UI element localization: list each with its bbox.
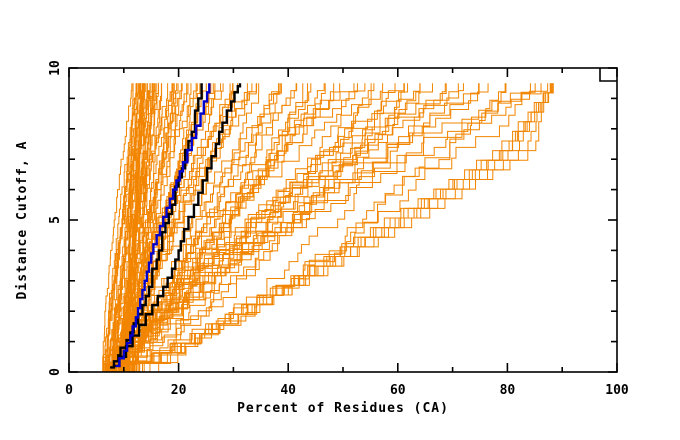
y-tick-label: 0 bbox=[48, 368, 63, 376]
x-tick-label: 80 bbox=[500, 383, 516, 398]
x-tick-label: 0 bbox=[65, 383, 73, 398]
x-tick-label: 20 bbox=[171, 383, 187, 398]
y-axis-label: Distance Cutoff, A bbox=[15, 141, 30, 300]
x-tick-label: 60 bbox=[390, 383, 406, 398]
canvas-background bbox=[0, 0, 680, 440]
x-tick-label: 100 bbox=[605, 383, 629, 398]
x-tick-label: 40 bbox=[280, 383, 296, 398]
y-tick-label: 10 bbox=[48, 60, 63, 76]
chart-page: T0981-D2 0204060801000510 Percent of Res… bbox=[0, 0, 680, 440]
y-tick-label: 5 bbox=[48, 216, 63, 224]
x-axis-label: Percent of Residues (CA) bbox=[237, 401, 449, 416]
plot-canvas: 0204060801000510 Percent of Residues (CA… bbox=[0, 0, 680, 440]
